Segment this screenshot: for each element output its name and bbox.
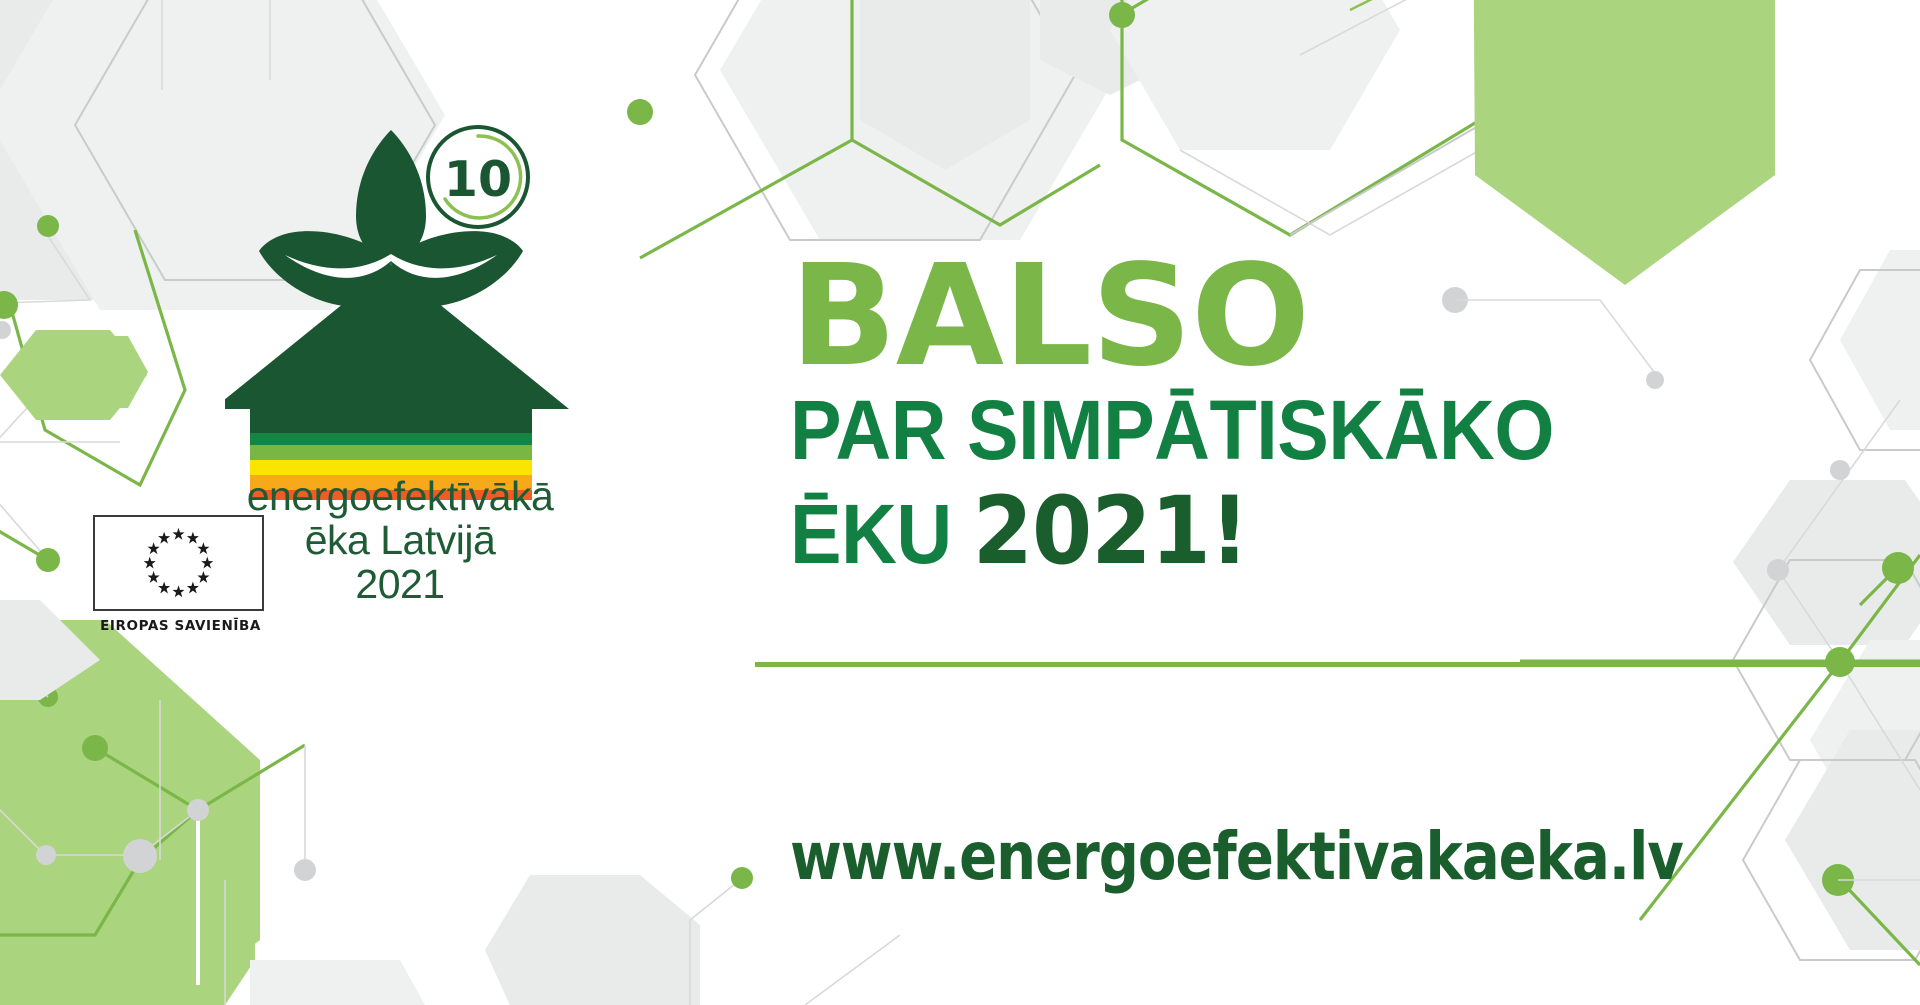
- anniversary-10-badge-icon: 10: [423, 122, 533, 232]
- eu-emblem: EIROPAS SAVIENĪBA: [93, 515, 268, 634]
- headline-block: BALSO PAR SIMPĀTISKĀKO ĒKU 2021!: [790, 250, 1880, 588]
- eu-emblem-label: EIROPAS SAVIENĪBA: [93, 618, 268, 634]
- logo-caption-line-1: energoefektīvākā: [205, 475, 595, 519]
- headline-line-year: ĒKU 2021!: [790, 477, 1793, 588]
- headline-line-balso: BALSO: [790, 250, 1880, 383]
- eu-flag-icon: [93, 515, 264, 611]
- website-url[interactable]: www.energoefektivakaeka.lv: [790, 818, 1683, 895]
- promo-banner: .hexfill { fill: #e9eaea; } .hexfill2 { …: [0, 0, 1920, 1005]
- badge-number: 10: [444, 151, 512, 208]
- headline-eku-prefix: ĒKU: [790, 487, 952, 581]
- competition-logo: 10 energoefektīvākā ēka Latvijā 2021: [225, 120, 575, 760]
- headline-line-subtitle: PAR SIMPĀTISKĀKO: [790, 383, 1793, 477]
- house-icon: [225, 265, 569, 441]
- headline-year-value: 2021!: [973, 477, 1249, 586]
- divider-line: [755, 662, 1920, 667]
